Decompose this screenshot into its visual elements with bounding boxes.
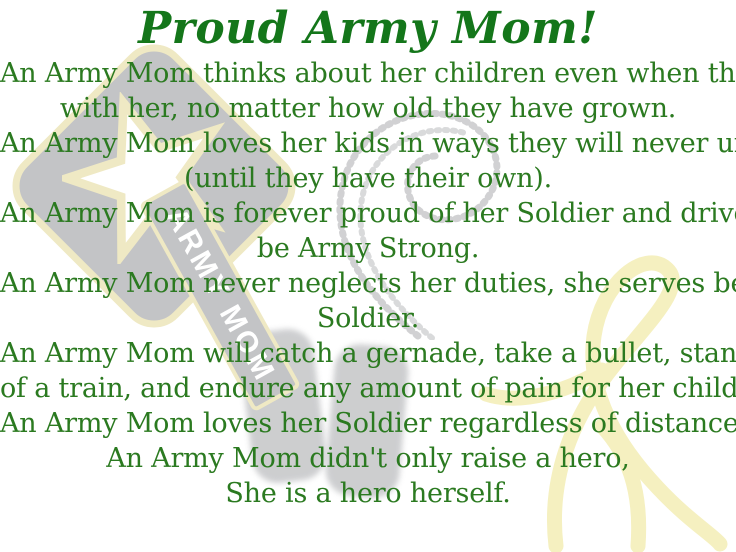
- verse-line: An Army Mom will catch a gernade, take a…: [0, 336, 736, 371]
- verse-line: Soldier.: [0, 301, 736, 336]
- verse-line: (until they have their own).: [0, 161, 736, 196]
- verse-line: An Army Mom thinks about her children ev…: [0, 56, 736, 91]
- verse-list: An Army Mom thinks about her children ev…: [0, 56, 736, 511]
- poster-text: Proud Army Mom! An Army Mom thinks about…: [0, 0, 736, 552]
- page-title: Proud Army Mom!: [0, 0, 736, 56]
- verse-line: of a train, and endure any amount of pai…: [0, 371, 736, 406]
- verse-line: An Army Mom loves her kids in ways they …: [0, 126, 736, 161]
- poster-canvas: ARMY MOM Proud Army Mom! An Army Mom thi…: [0, 0, 736, 552]
- verse-line: be Army Strong.: [0, 231, 736, 266]
- verse-line: with her, no matter how old they have gr…: [0, 91, 736, 126]
- verse-line: An Army Mom never neglects her duties, s…: [0, 266, 736, 301]
- verse-line: An Army Mom loves her Soldier regardless…: [0, 406, 736, 441]
- verse-line: An Army Mom didn't only raise a hero,: [0, 441, 736, 476]
- verse-line: She is a hero herself.: [0, 476, 736, 511]
- verse-line: An Army Mom is forever proud of her Sold…: [0, 196, 736, 231]
